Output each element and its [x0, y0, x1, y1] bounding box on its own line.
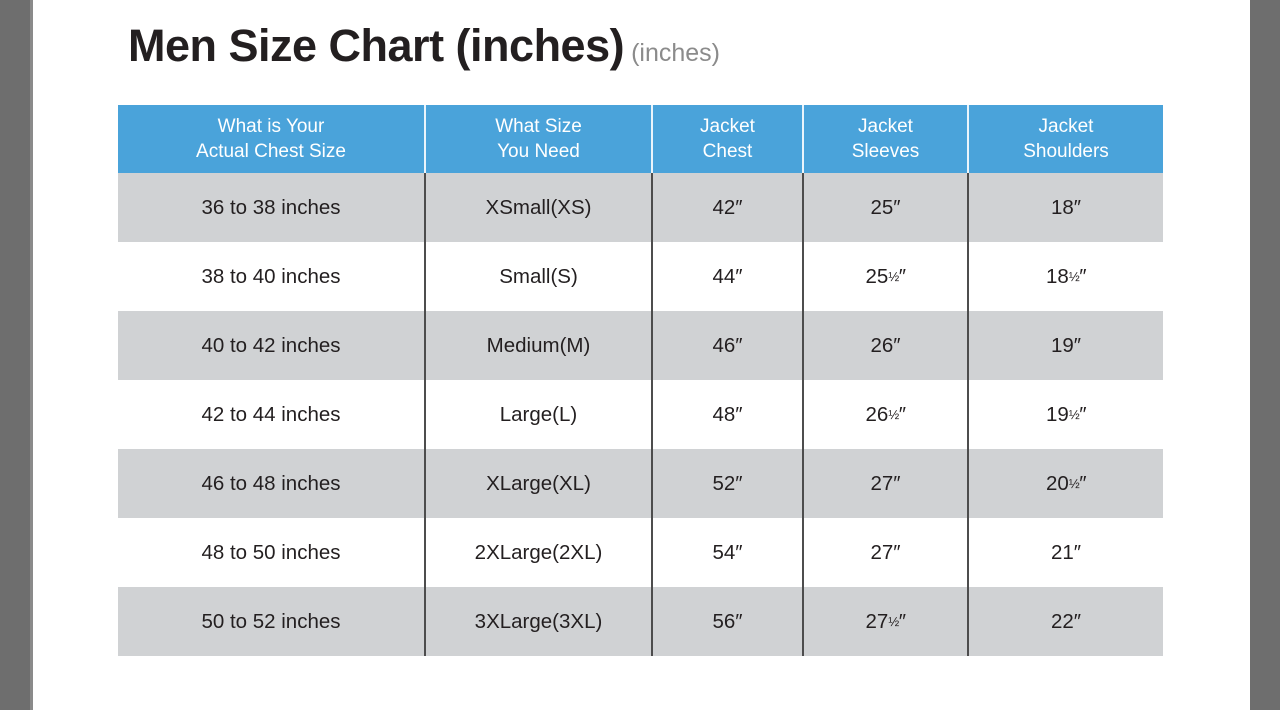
- cell-jacket-chest: 56″: [652, 587, 803, 656]
- table-row: 40 to 42 inchesMedium(M)46″26″19″: [118, 311, 1163, 380]
- cell-size-needed: Large(L): [425, 380, 652, 449]
- cell-chest-size: 48 to 50 inches: [118, 518, 425, 587]
- cell-jacket-shoulders: 20½″: [968, 449, 1163, 518]
- table-body: 36 to 38 inchesXSmall(XS)42″25″18″38 to …: [118, 173, 1163, 656]
- letterbox-bar-right: [1250, 0, 1280, 710]
- cell-jacket-shoulders: 18½″: [968, 242, 1163, 311]
- cell-jacket-chest: 48″: [652, 380, 803, 449]
- cell-size-needed: 2XLarge(2XL): [425, 518, 652, 587]
- cell-size-needed: XLarge(XL): [425, 449, 652, 518]
- cell-jacket-chest: 52″: [652, 449, 803, 518]
- cell-jacket-shoulders: 19″: [968, 311, 1163, 380]
- column-header-line1: Jacket: [969, 114, 1163, 139]
- column-header-line1: Jacket: [653, 114, 802, 139]
- column-header-line2: Sleeves: [804, 139, 967, 164]
- page-title-unit: (inches): [631, 39, 720, 67]
- cell-jacket-sleeves: 26½″: [803, 380, 968, 449]
- column-header-line1: Jacket: [804, 114, 967, 139]
- cell-jacket-sleeves: 26″: [803, 311, 968, 380]
- table-row: 42 to 44 inchesLarge(L)48″26½″19½″: [118, 380, 1163, 449]
- cell-jacket-sleeves: 25½″: [803, 242, 968, 311]
- cell-jacket-sleeves: 27″: [803, 518, 968, 587]
- cell-size-needed: Small(S): [425, 242, 652, 311]
- cell-jacket-sleeves: 27″: [803, 449, 968, 518]
- column-header-jacket-sleeves: Jacket Sleeves: [803, 105, 968, 173]
- column-header-jacket-chest: Jacket Chest: [652, 105, 803, 173]
- cell-jacket-shoulders: 21″: [968, 518, 1163, 587]
- table-row: 46 to 48 inchesXLarge(XL)52″27″20½″: [118, 449, 1163, 518]
- page-title: Men Size Chart (inches)(inches): [128, 20, 720, 72]
- cell-jacket-shoulders: 18″: [968, 173, 1163, 242]
- table-row: 36 to 38 inchesXSmall(XS)42″25″18″: [118, 173, 1163, 242]
- page-title-text: Men Size Chart (inches): [128, 20, 624, 71]
- column-header-chest-size: What is Your Actual Chest Size: [118, 105, 425, 173]
- column-header-line2: Shoulders: [969, 139, 1163, 164]
- slide-canvas: Men Size Chart (inches)(inches) What is …: [33, 0, 1250, 710]
- column-header-jacket-shoulders: Jacket Shoulders: [968, 105, 1163, 173]
- table-row: 38 to 40 inchesSmall(S)44″25½″18½″: [118, 242, 1163, 311]
- cell-size-needed: Medium(M): [425, 311, 652, 380]
- letterbox-bar-left: [0, 0, 30, 710]
- cell-jacket-shoulders: 19½″: [968, 380, 1163, 449]
- cell-chest-size: 50 to 52 inches: [118, 587, 425, 656]
- cell-jacket-chest: 46″: [652, 311, 803, 380]
- cell-jacket-chest: 54″: [652, 518, 803, 587]
- column-header-line2: Chest: [653, 139, 802, 164]
- table-row: 48 to 50 inches2XLarge(2XL)54″27″21″: [118, 518, 1163, 587]
- cell-jacket-sleeves: 25″: [803, 173, 968, 242]
- column-header-line1: What Size: [426, 114, 651, 139]
- cell-size-needed: 3XLarge(3XL): [425, 587, 652, 656]
- cell-jacket-shoulders: 22″: [968, 587, 1163, 656]
- cell-jacket-chest: 44″: [652, 242, 803, 311]
- cell-size-needed: XSmall(XS): [425, 173, 652, 242]
- table-header-row: What is Your Actual Chest Size What Size…: [118, 105, 1163, 173]
- column-header-line2: You Need: [426, 139, 651, 164]
- table-header: What is Your Actual Chest Size What Size…: [118, 105, 1163, 173]
- cell-chest-size: 46 to 48 inches: [118, 449, 425, 518]
- cell-chest-size: 36 to 38 inches: [118, 173, 425, 242]
- cell-jacket-sleeves: 27½″: [803, 587, 968, 656]
- column-header-line1: What is Your: [118, 114, 424, 139]
- cell-chest-size: 38 to 40 inches: [118, 242, 425, 311]
- column-header-size-needed: What Size You Need: [425, 105, 652, 173]
- column-header-line2: Actual Chest Size: [118, 139, 424, 164]
- table-row: 50 to 52 inches3XLarge(3XL)56″27½″22″: [118, 587, 1163, 656]
- cell-jacket-chest: 42″: [652, 173, 803, 242]
- size-chart-table: What is Your Actual Chest Size What Size…: [118, 105, 1163, 656]
- cell-chest-size: 42 to 44 inches: [118, 380, 425, 449]
- cell-chest-size: 40 to 42 inches: [118, 311, 425, 380]
